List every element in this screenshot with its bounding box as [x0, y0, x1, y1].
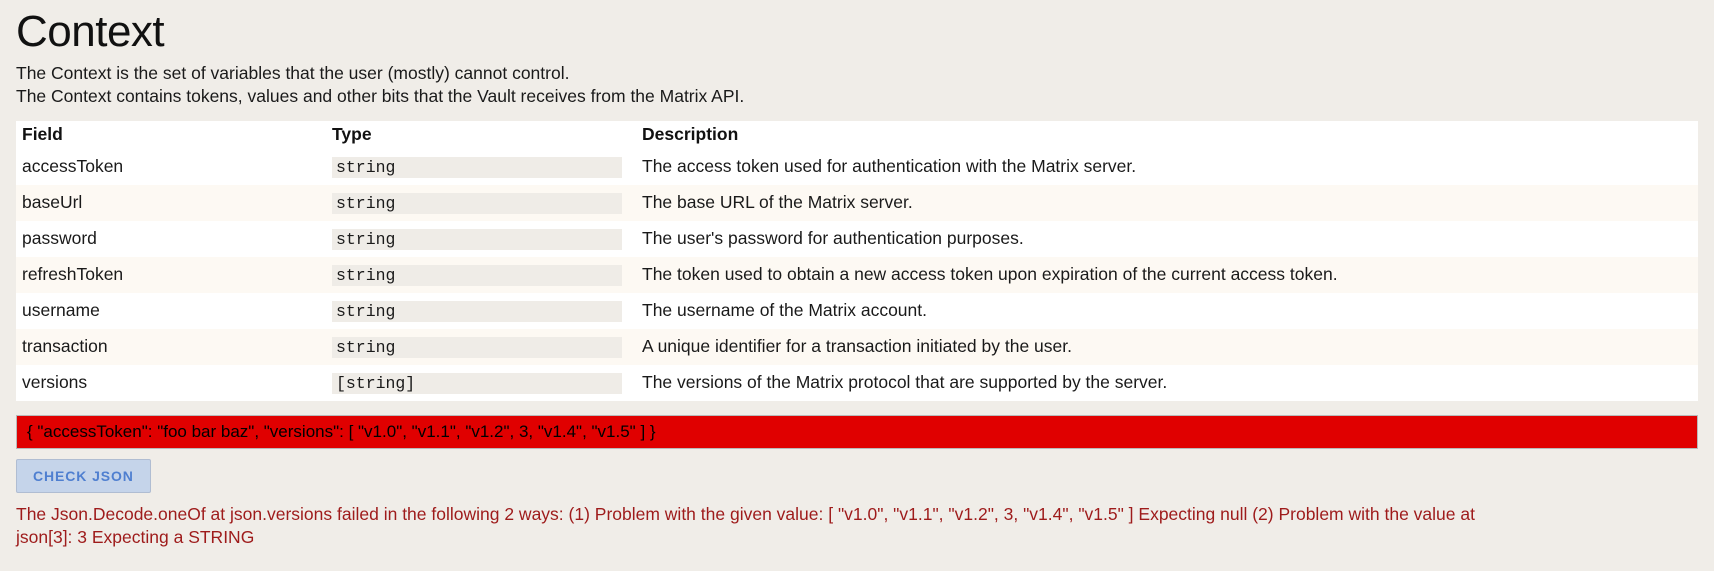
table-body: accessToken string The access token used… — [16, 149, 1698, 401]
type-code: string — [332, 157, 622, 178]
table-row: username string The username of the Matr… — [16, 293, 1698, 329]
json-error-message: The Json.Decode.oneOf at json.versions f… — [16, 503, 1536, 551]
cell-description: The user's password for authentication p… — [636, 221, 1698, 257]
cell-type: string — [326, 221, 636, 257]
cell-description: The base URL of the Matrix server. — [636, 185, 1698, 221]
column-header-description: Description — [636, 121, 1698, 149]
cell-field: password — [16, 221, 326, 257]
type-code: string — [332, 193, 622, 214]
page-container: Context The Context is the set of variab… — [0, 0, 1714, 550]
cell-type: string — [326, 185, 636, 221]
table-header: Field Type Description — [16, 121, 1698, 149]
cell-description: The token used to obtain a new access to… — [636, 257, 1698, 293]
table-row: password string The user's password for … — [16, 221, 1698, 257]
cell-type: string — [326, 257, 636, 293]
table-row: baseUrl string The base URL of the Matri… — [16, 185, 1698, 221]
cell-description: A unique identifier for a transaction in… — [636, 329, 1698, 365]
cell-field: username — [16, 293, 326, 329]
cell-type: string — [326, 149, 636, 185]
table-row: versions [string] The versions of the Ma… — [16, 365, 1698, 401]
table-row: refreshToken string The token used to ob… — [16, 257, 1698, 293]
cell-field: refreshToken — [16, 257, 326, 293]
cell-description: The versions of the Matrix protocol that… — [636, 365, 1698, 401]
table-header-row: Field Type Description — [16, 121, 1698, 149]
cell-type: [string] — [326, 365, 636, 401]
column-header-field: Field — [16, 121, 326, 149]
intro-line-2: The Context contains tokens, values and … — [16, 85, 1698, 108]
check-json-button[interactable]: CHECK JSON — [16, 459, 151, 493]
page-title: Context — [16, 8, 1698, 56]
json-input[interactable] — [16, 415, 1698, 449]
cell-description: The username of the Matrix account. — [636, 293, 1698, 329]
cell-field: versions — [16, 365, 326, 401]
table-row: accessToken string The access token used… — [16, 149, 1698, 185]
type-code: string — [332, 265, 622, 286]
cell-type: string — [326, 293, 636, 329]
cell-field: transaction — [16, 329, 326, 365]
type-code: string — [332, 337, 622, 358]
cell-description: The access token used for authentication… — [636, 149, 1698, 185]
cell-type: string — [326, 329, 636, 365]
type-code: [string] — [332, 373, 622, 394]
context-fields-table: Field Type Description accessToken strin… — [16, 121, 1698, 401]
column-header-type: Type — [326, 121, 636, 149]
cell-field: accessToken — [16, 149, 326, 185]
type-code: string — [332, 301, 622, 322]
cell-field: baseUrl — [16, 185, 326, 221]
table-row: transaction string A unique identifier f… — [16, 329, 1698, 365]
intro-line-1: The Context is the set of variables that… — [16, 62, 1698, 85]
type-code: string — [332, 229, 622, 250]
